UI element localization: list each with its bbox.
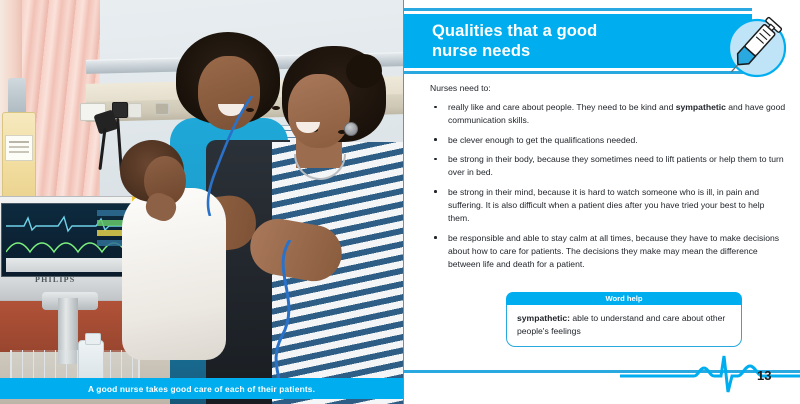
list-item-text-before: be strong in their mind, because it is h…	[448, 187, 764, 223]
photo-panel: PHILIPS	[0, 0, 403, 404]
lead-text: Nurses need to:	[430, 82, 788, 95]
list-item-text-before: be responsible and able to stay calm at …	[448, 233, 779, 269]
word-help-content: sympathetic: able to understand and care…	[506, 305, 742, 347]
bullet-dot	[434, 236, 437, 239]
wall-socket	[128, 103, 142, 118]
section-header: Qualities that a good nurse needs	[404, 8, 800, 80]
header-band: Qualities that a good nurse needs	[404, 14, 752, 68]
content-panel: Qualities that a good nurse needs Nurse	[404, 0, 800, 404]
bullet-dot	[434, 138, 437, 141]
hospital-photo: PHILIPS	[0, 0, 403, 404]
ecg-footer-icon	[620, 352, 800, 396]
list-item-text-before: be strong in their body, because they so…	[448, 154, 784, 177]
iv-pole-top	[8, 78, 26, 114]
list-item: really like and care about people. They …	[430, 101, 788, 127]
medical-tubing	[196, 96, 266, 216]
mother-earring	[344, 122, 358, 136]
word-help-box: Word help sympathetic: able to understan…	[506, 292, 742, 347]
list-item: be responsible and able to stay calm at …	[430, 232, 788, 271]
list-item: be clever enough to get the qualificatio…	[430, 134, 788, 147]
list-item: be strong in their body, because they so…	[430, 153, 788, 179]
word-help-title: Word help	[606, 294, 643, 303]
mother-hair-bun	[346, 54, 382, 88]
word-help-definition: sympathetic: able to understand and care…	[517, 312, 731, 338]
bullet-dot	[434, 106, 437, 109]
bullet-dot	[434, 190, 437, 193]
list-item-text-before: be clever enough to get the qualificatio…	[448, 135, 638, 145]
photo-caption-text: A good nurse takes good care of each of …	[88, 384, 315, 394]
mother-face	[288, 74, 350, 148]
header-rule-top	[404, 8, 752, 11]
page-title: Qualities that a good nurse needs	[404, 21, 597, 61]
supply-bottle	[78, 340, 104, 382]
word-help-term: sympathetic:	[517, 313, 570, 323]
word-help-header: Word help	[506, 292, 742, 305]
iv-bag-label	[5, 135, 33, 161]
monitor-brand-label: PHILIPS	[35, 275, 75, 284]
list-item-text-before: really like and care about people. They …	[448, 102, 676, 112]
textbook-page: PHILIPS	[0, 0, 800, 404]
list-item: be strong in their mind, because it is h…	[430, 186, 788, 225]
syringe-icon	[716, 8, 792, 84]
bullet-dot	[434, 158, 437, 161]
photo-caption-bar: A good nurse takes good care of each of …	[0, 378, 403, 399]
page-number: 13	[757, 368, 771, 383]
list-item-bold-term: sympathetic	[676, 102, 726, 112]
qualities-list: really like and care about people. They …	[430, 101, 788, 271]
medical-tubing	[250, 240, 320, 390]
body-copy: Nurses need to: really like and care abo…	[430, 82, 788, 277]
header-rule-bottom	[404, 71, 752, 74]
